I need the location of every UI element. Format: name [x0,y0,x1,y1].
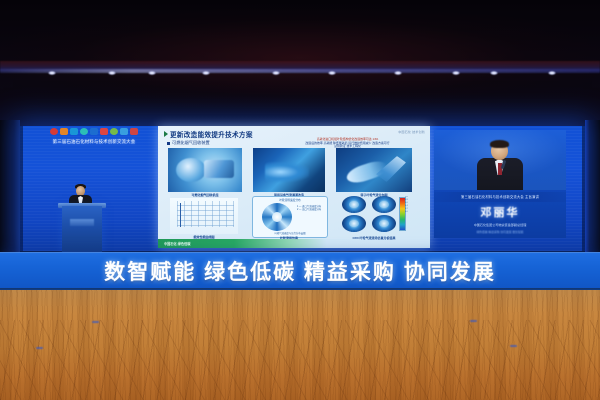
video-strapline-text: 第三届石油石化材料与技术创新交流大会 主旨演讲 [434,194,566,199]
cfd-label-2: 工况三 [338,230,370,233]
speaker-video-panel: 第三届石油石化材料与技术创新交流大会 主旨演讲 邓丽华 中国石化集团公司物资装备… [434,130,566,238]
cfd-label-3: 工况四 [368,230,400,233]
slide-corner-label: 中国石化 技术创新 [398,130,425,134]
podium-nameplate [70,219,94,226]
floor-marker [470,320,477,322]
spotlight-icon [108,71,116,75]
sponsor-logo-icon [110,128,118,135]
speaker-video-feed [434,130,566,190]
slide-title-wrap: 更新改造能效提升技术方案 [164,129,253,139]
sponsor-logo-icon [120,128,128,135]
led-backdrop-left-edge [20,126,23,251]
sponsor-logo-icon [60,128,68,135]
spotlight-icon [48,71,56,75]
spotlight-icon [452,71,460,75]
stage-left-wall [0,120,20,252]
impeller-legend: 1 — 进口气流速度分布 2 — 出口气流速度分布 [297,205,321,212]
slide-impeller-diagram: 叶轮流场速度分布 1 — 进口气流速度分布 2 — 出口气流速度分布 叶轮气流速… [252,196,328,238]
cfd-cell-3: 工况四 [368,215,400,232]
impeller-bottom-note: 叶轮气流速度与压力分布云图 [253,231,327,235]
spotlight-icon [394,71,402,75]
slide-footer-brand: 中国石化 绿色低碳 [158,239,430,248]
stage-banner-text: 数智赋能 绿色低碳 精益采购 协同发展 [104,256,496,286]
cfd-label-1: 工况二 [368,211,400,214]
video-ticker: 绿色低碳 精益采购 协同发展 数智赋能 [434,230,566,234]
sponsor-logo-row [34,127,154,136]
spotlight-icon [202,71,210,75]
slide-bullet-text: 可燃化烟气回收装置 [172,140,210,146]
presentation-slide: 更新改造能效提升技术方案 中国石化 技术创新 可燃化烟气回收装置 高耗化进口机组… [158,126,430,248]
cfd-colorbar-ticks: 1.00.80.60.40.20.0 [405,196,408,215]
sponsor-logo-icon [80,128,88,135]
sponsor-logo-icon [70,128,78,135]
stage-banner-inner: 数智赋能 绿色低碳 精益采购 协同发展 [0,252,600,290]
spotlight-icon [328,71,336,75]
slide-photo-blade [336,148,412,192]
stage-banner: 数智赋能 绿色低碳 精益采购 协同发展 [0,252,600,290]
floor-marker [92,321,99,323]
video-strapline: 第三届石油石化材料与技术创新交流大会 主旨演讲 [434,192,566,202]
slide-footer-text: 中国石化 绿色低碳 [164,241,190,246]
spotlight-icon [272,71,280,75]
spotlight-icon [548,71,556,75]
sponsor-logo-icon [90,128,98,135]
cfd-cell-1: 工况二 [368,196,400,213]
podium [62,206,102,252]
spotlight-icon [490,71,498,75]
slide-performance-chart [170,198,238,234]
slide-photo-machine [168,148,242,192]
cfd-colorbar-tick: 0.0 [405,211,408,214]
chevron-right-icon [164,131,168,137]
sponsor-logo-icon [130,128,138,135]
cfd-cell-2: 工况三 [338,215,370,232]
ceiling-light-rail [0,69,600,73]
impeller-legend-1: 2 — 出口气流速度分布 [297,208,321,211]
speaker-hair [490,140,509,148]
slide-title: 更新改造能效提升技术方案 [170,129,253,139]
conference-stage-scene: 第三届石油石化材料与技术创新交流大会 更新改造能效提升技术方案 中国石化 技术创… [0,0,600,400]
slide-photo-caption-0: 可燃化烟气回收机组 [168,193,242,197]
speaker-role: 中国石化集团公司物资装备部副总经理 [434,222,566,227]
stage-right-wall [585,120,600,252]
spotlight-icon [148,71,156,75]
speaker-name: 邓丽华 [434,204,566,220]
cfd-label-0: 工况一 [338,211,370,214]
floor-marker [510,345,517,347]
led-backdrop-right-edge [582,126,585,251]
slide-photo-install [253,148,325,192]
sponsor-logo-icon [100,128,108,135]
slide-cfd-panels: 工况一 工况二 工况三 工况四 1.00.80.60.40.20.0 [338,196,410,234]
slide-bullet: 可燃化烟气回收装置 [167,140,210,146]
conference-title: 第三届石油石化材料与技术创新交流大会 [34,139,154,145]
impeller-disc-icon [262,203,292,231]
bullet-square-icon [167,142,170,145]
floor-marker [36,347,43,349]
backdrop-header: 第三届石油石化材料与技术创新交流大会 [34,127,154,145]
impeller-title: 叶轮流场速度分布 [253,198,327,202]
sponsor-logo-icon [50,128,58,135]
cfd-cell-0: 工况一 [338,196,370,213]
